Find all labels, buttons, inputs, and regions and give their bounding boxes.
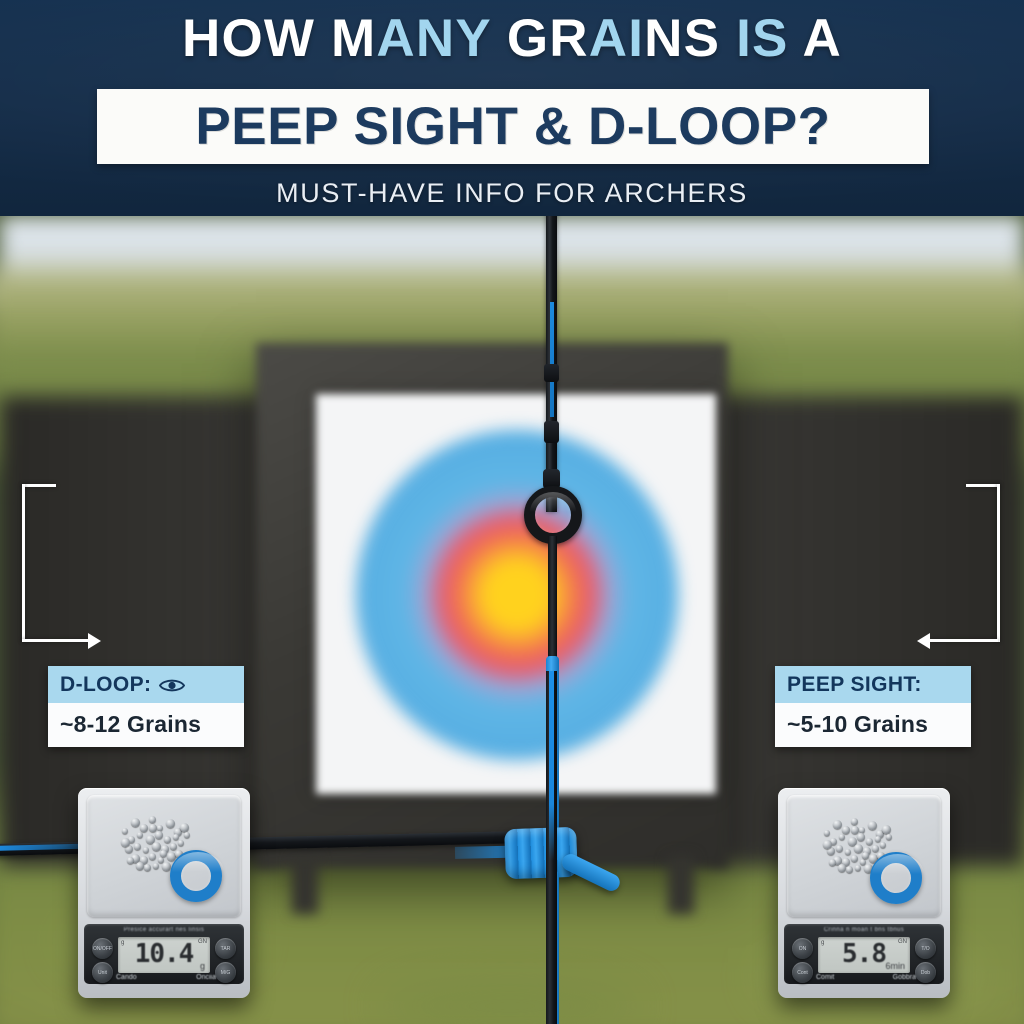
steel-pellet: [868, 821, 877, 830]
steel-pellet: [855, 865, 861, 871]
steel-pellet: [866, 838, 873, 845]
steel-pellet: [833, 820, 842, 829]
steel-pellet: [152, 842, 161, 851]
digital-scale-left: Presice accurart nes linsis g GN 10.4 g …: [78, 788, 250, 998]
steel-pellet: [144, 864, 151, 871]
scale-button-on-off[interactable]: ON/OFF: [92, 938, 113, 959]
scale-button-unit[interactable]: Unit: [92, 962, 113, 983]
backstop-leg-left: [292, 856, 318, 914]
page-title-segment: HOW M: [182, 9, 376, 68]
scale-button-tare[interactable]: TAR: [215, 938, 236, 959]
steel-pellet: [862, 852, 869, 859]
steel-pellet: [838, 864, 846, 872]
scale-reading-left: 10.4: [124, 939, 204, 969]
steel-pellet: [143, 847, 149, 853]
scale-lcd: g GN 5.8 6min: [818, 937, 910, 973]
callout-d-loop-band: D-LOOP:: [48, 666, 244, 703]
page-title-line2: PEEP SIGHT & D-LOOP?: [195, 100, 830, 153]
steel-pellet: [823, 840, 832, 849]
page-title-segment: AI: [589, 9, 644, 68]
target-rings: [356, 430, 678, 760]
steel-pellet: [122, 828, 128, 834]
scale-label-left: Comit: [816, 974, 834, 981]
scale-display-panel: Presice accurart nes linsis g GN 10.4 g …: [84, 924, 244, 984]
scale-button-on[interactable]: ON: [792, 938, 813, 959]
arrow-head-left: [917, 633, 930, 649]
steel-pellet: [140, 824, 148, 832]
steel-pellet: [164, 836, 171, 843]
steel-pellet: [160, 850, 167, 857]
callout-d-loop-label: D-LOOP:: [60, 673, 151, 697]
digital-scale-right: Crinna n moan t bns tbnus g GN 5.8 6min …: [778, 788, 950, 998]
page-title-segment: A: [789, 9, 842, 68]
steel-pellet: [127, 857, 134, 864]
steel-pellet: [136, 862, 144, 870]
page-title-band: PEEP SIGHT & D-LOOP?: [97, 89, 929, 164]
callout-peep-sight-label: PEEP SIGHT:: [787, 673, 922, 697]
scale-label-right: Onciia: [196, 974, 216, 981]
callout-peep-sight-value: ~5-10 Grains: [775, 703, 971, 747]
scale-button-mode[interactable]: Dob: [915, 962, 936, 983]
steel-pellet: [829, 859, 836, 866]
steel-pellet: [846, 866, 853, 873]
steel-pellet: [854, 844, 863, 853]
photo-area: D-LOOP: ~8-12 Grains PEEP SIGHT: ~5-10 G…: [0, 216, 1024, 1024]
backstop-leg-right: [668, 856, 694, 914]
steel-pellet: [882, 825, 891, 834]
page-subtitle: MUST-HAVE INFO FOR ARCHERS: [0, 178, 1024, 209]
steel-pellet: [155, 831, 163, 839]
callout-peep-sight[interactable]: PEEP SIGHT: ~5-10 Grains: [775, 666, 971, 747]
page-title-segment: IS: [736, 9, 788, 68]
eye-icon: [159, 677, 185, 694]
steel-pellet: [134, 843, 141, 850]
scale-brand-text: Crinna n moan t bns tbnus: [784, 927, 944, 933]
string-serving-band: [544, 364, 559, 382]
steel-pellet: [824, 830, 830, 836]
steel-pellet: [851, 855, 858, 862]
steel-pellet: [149, 824, 157, 832]
steel-pellet: [836, 845, 843, 852]
steel-pellet: [839, 834, 845, 840]
steel-pellet: [875, 836, 881, 842]
scale-button-tare[interactable]: T/O: [915, 938, 936, 959]
steel-pellet: [149, 816, 156, 823]
scale-label-left: Cando: [116, 974, 137, 981]
steel-pellet: [851, 826, 859, 834]
steel-pellet: [842, 826, 850, 834]
bowstring-lower: [546, 671, 557, 1024]
steel-pellet: [184, 832, 190, 838]
steel-pellet: [845, 849, 851, 855]
steel-pellet: [131, 818, 140, 827]
steel-pellet: [166, 819, 175, 828]
page-title-line1: HOW MANY GRAINS IS A: [0, 12, 1024, 65]
callout-d-loop-value: ~8-12 Grains: [48, 703, 244, 747]
scale-unit-right: 6min: [885, 961, 905, 971]
page-title-segment: ANY: [376, 9, 491, 68]
scale-button-cont[interactable]: Cont: [792, 962, 813, 983]
scale-brand-text: Presice accurart nes linsis: [84, 927, 244, 933]
page-title-segment: NS: [644, 9, 736, 68]
steel-pellet: [880, 842, 886, 848]
scale-display-panel: Crinna n moan t bns tbnus g GN 5.8 6min …: [784, 924, 944, 984]
scale-label-right: Gobbra: [893, 974, 916, 981]
steel-pellet: [180, 823, 189, 832]
steel-pellet: [153, 863, 159, 869]
steel-pellet: [173, 834, 179, 840]
steel-pellet: [170, 843, 177, 850]
header-banner: HOW MANY GRAINS IS A PEEP SIGHT & D-LOOP…: [0, 0, 1024, 216]
callout-peep-sight-band: PEEP SIGHT:: [775, 666, 971, 703]
blue-o-ring: [170, 850, 222, 902]
blue-o-ring: [870, 852, 922, 904]
steel-pellet: [121, 838, 130, 847]
bowstring-middle: [548, 536, 557, 676]
string-serving-band: [544, 421, 559, 443]
infographic-canvas: HOW MANY GRAINS IS A PEEP SIGHT & D-LOOP…: [0, 0, 1024, 1024]
arrow-head-right: [88, 633, 101, 649]
scale-lcd: g GN 10.4 g: [118, 937, 210, 973]
d-loop-knot: [504, 827, 578, 879]
steel-pellet: [851, 818, 858, 825]
page-title-segment: GR: [491, 9, 589, 68]
scale-button-mode[interactable]: M/G: [215, 962, 236, 983]
steel-pellet: [149, 853, 156, 860]
scale-unit-left: g: [200, 961, 205, 971]
steel-pellet: [137, 832, 143, 838]
steel-pellet: [886, 834, 892, 840]
steel-pellet: [857, 833, 865, 841]
steel-pellet: [178, 840, 184, 846]
steel-pellet: [872, 845, 879, 852]
callout-d-loop[interactable]: D-LOOP: ~8-12 Grains: [48, 666, 244, 747]
